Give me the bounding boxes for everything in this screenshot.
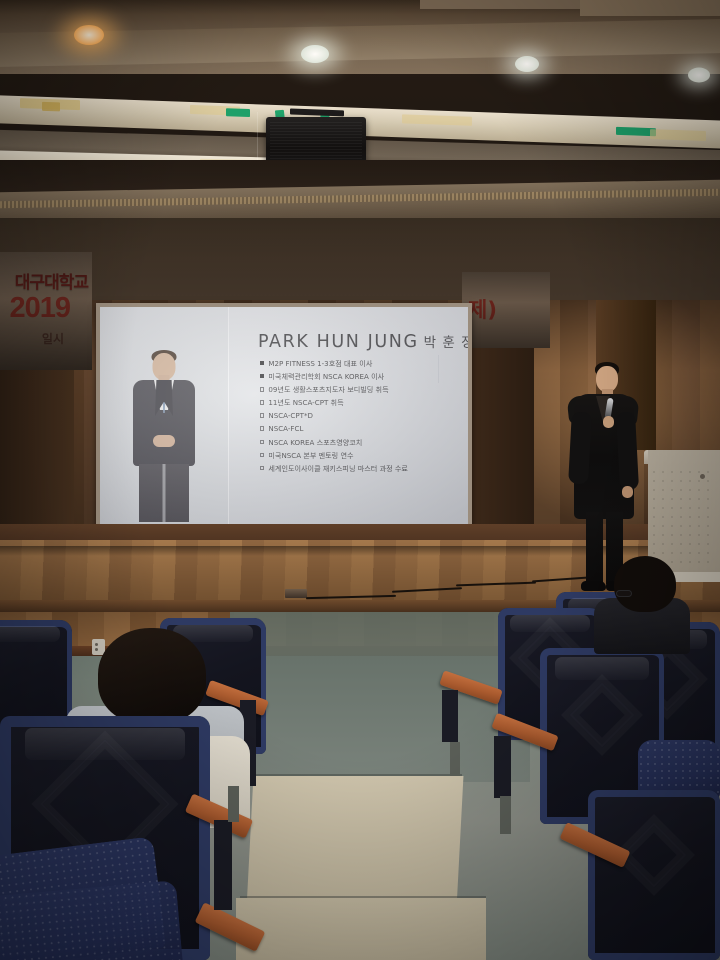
portrait-hands	[153, 435, 175, 447]
seat-highlight	[25, 728, 185, 760]
aisle-step-lower	[236, 898, 486, 960]
presenter-arm-left	[568, 412, 592, 485]
seat-leg-left-1	[228, 786, 239, 822]
slide-guide-line	[438, 355, 439, 383]
ceiling-notch-1	[420, 0, 580, 9]
bullet-marker-open-icon	[260, 387, 264, 391]
bullet-marker-filled-icon	[260, 361, 264, 365]
slide-text-panel: PARK HUN JUNG박 훈 정 M2P FITNESS 1-3호점 대표 …	[229, 307, 468, 525]
list-item: NSCA-FCL	[260, 425, 408, 432]
presenter-hand-holding-mic	[603, 416, 614, 428]
armrest-stem-right-front	[494, 736, 511, 798]
ceiling-notch-2	[580, 0, 720, 16]
ceiling-light-4	[678, 62, 720, 88]
bullet-text: 미국체력관리학회 NSCA KOREA 이사	[268, 373, 384, 380]
seat-highlight	[555, 657, 649, 680]
aisle-step-upper	[247, 776, 464, 908]
presenter-hand-right	[622, 486, 633, 498]
banner-left: 대구대학교 2019 일시	[0, 252, 92, 370]
bullet-text: 11년도 NSCA-CPT 취득	[268, 399, 343, 406]
ceiling-light-2	[290, 38, 340, 70]
armrest-stem-left-front	[214, 820, 232, 910]
aisle-tread-line-1	[250, 774, 462, 776]
list-item: 09년도 생활스포츠지도자 보디빌딩 취득	[260, 386, 408, 393]
auditorium-scene: 대구대학교 2019 일시 제) PARK HUN JUNG박 훈	[0, 0, 720, 960]
attendee-right-hair	[614, 556, 676, 612]
cabinet-perforation	[652, 470, 716, 570]
slide-title: PARK HUN JUNG박 훈 정	[258, 331, 468, 352]
slide-bullet-list: M2P FITNESS 1-3호점 대표 이사 미국체력관리학회 NSCA KO…	[260, 360, 408, 478]
ceiling-light-3	[505, 50, 549, 78]
bullet-marker-open-icon	[260, 453, 264, 457]
list-item: 세계인도이사이클 재키스피닝 마스터 과정 수료	[260, 465, 408, 472]
wall-dark-band	[0, 218, 720, 308]
armrest-stem-right-2	[442, 690, 458, 742]
bullet-marker-open-icon	[260, 413, 264, 417]
tape-black-1	[290, 108, 344, 116]
cabinet-knob	[700, 474, 705, 479]
list-item: 미국체력관리학회 NSCA KOREA 이사	[260, 373, 408, 380]
bullet-marker-open-icon	[260, 426, 264, 430]
banner-left-shading	[0, 252, 92, 370]
slide-portrait-photo	[100, 307, 228, 525]
tape-yellow-5	[650, 129, 706, 141]
list-item: NSCA-CPT*D	[260, 412, 408, 419]
attendee-right	[598, 556, 684, 636]
bullet-marker-open-icon	[260, 466, 264, 470]
soffit-rail	[0, 188, 720, 208]
seat-leg-right-1	[450, 742, 460, 776]
projector-grill	[270, 122, 362, 164]
seat-cushion-left-rear	[0, 880, 183, 960]
ceiling-light-1	[62, 18, 116, 52]
bullet-text: 미국NSCA 본부 멘토링 연수	[268, 452, 353, 459]
slide-title-english: PARK HUN JUNG	[258, 332, 419, 352]
seat-right-corner	[588, 790, 720, 960]
bullet-text: NSCA-CPT*D	[268, 412, 313, 419]
tape-yellow-4	[402, 114, 472, 125]
bullet-marker-open-icon	[260, 400, 264, 404]
projection-screen: PARK HUN JUNG박 훈 정 M2P FITNESS 1-3호점 대표 …	[100, 307, 468, 525]
presenter-arm-right	[616, 412, 639, 491]
list-item: NSCA KOREA 스포츠영양코치	[260, 439, 408, 446]
banner-right: 제)	[462, 272, 550, 348]
bullet-text: M2P FITNESS 1-3호점 대표 이사	[268, 360, 372, 367]
attendee-right-glasses	[616, 590, 632, 597]
projector-wire	[257, 112, 258, 164]
bullet-text: NSCA-FCL	[268, 425, 303, 432]
list-item: 11년도 NSCA-CPT 취득	[260, 399, 408, 406]
floor-outlet-box	[285, 589, 307, 598]
seat-highlight	[0, 626, 60, 642]
bullet-marker-open-icon	[260, 440, 264, 444]
bullet-marker-filled-icon	[260, 374, 264, 378]
bullet-text: 09년도 생활스포츠지도자 보디빌딩 취득	[268, 386, 388, 393]
slide-title-korean: 박 훈 정	[424, 335, 468, 351]
bullet-text: NSCA KOREA 스포츠영양코치	[268, 439, 362, 446]
bullet-text: 세계인도이사이클 재키스피닝 마스터 과정 수료	[268, 465, 408, 472]
seat-highlight	[510, 615, 589, 632]
portrait-leg-gap	[163, 464, 166, 522]
list-item: M2P FITNESS 1-3호점 대표 이사	[260, 360, 408, 367]
tape-yellow-2	[42, 102, 60, 112]
tape-green-1	[226, 108, 250, 117]
seat-leg-right-2	[500, 796, 511, 834]
list-item: 미국NSCA 본부 멘토링 연수	[260, 452, 408, 459]
attendee-front-left-hair	[98, 628, 206, 724]
aisle-tread-line-2	[240, 896, 486, 898]
banner-right-shading	[462, 272, 550, 348]
